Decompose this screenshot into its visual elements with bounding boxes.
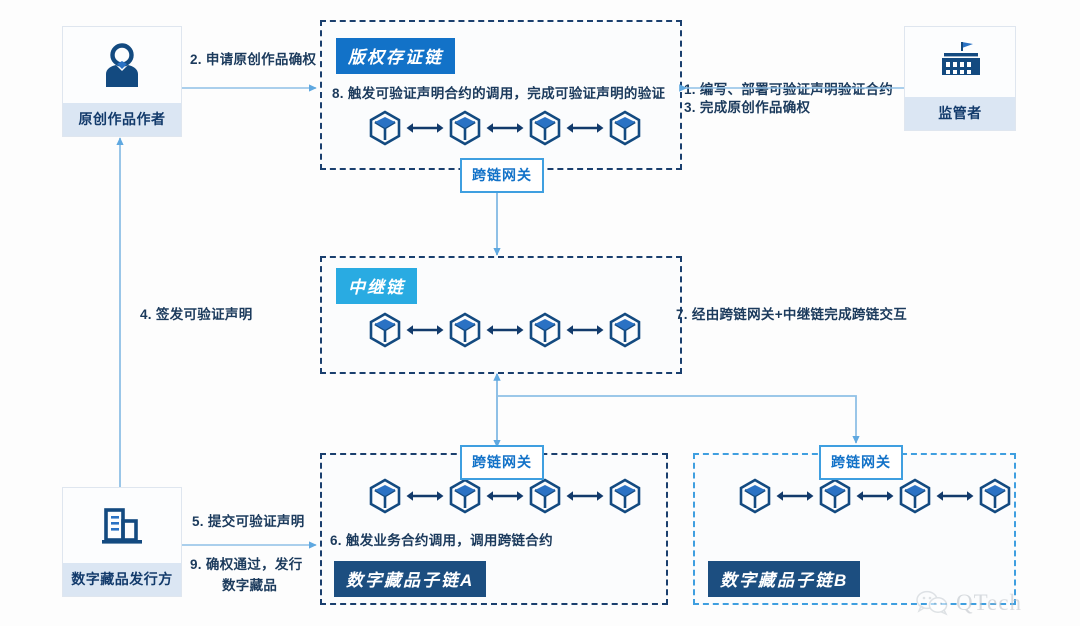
blockchain-node-icon <box>608 478 642 514</box>
node-row-copyright <box>368 110 642 146</box>
chain-copyright-step: 8. 触发可验证声明合约的调用，完成可验证声明的验证 <box>332 82 665 102</box>
blockchain-node-icon <box>608 110 642 146</box>
blockchain-node-icon <box>368 312 402 348</box>
blockchain-node-icon <box>818 478 852 514</box>
node-link-icon <box>562 490 608 502</box>
actor-author-label: 原创作品作者 <box>63 103 181 136</box>
wechat-logo-icon <box>916 590 950 616</box>
chain-copyright-badge: 版权存证链 <box>336 38 455 74</box>
node-link-icon <box>932 490 978 502</box>
diagram-canvas: 原创作品作者 监管者 <box>0 0 1080 626</box>
blockchain-node-icon <box>448 312 482 348</box>
blockchain-node-icon <box>528 478 562 514</box>
blockchain-node-icon <box>528 110 562 146</box>
step-7-label: 7. 经由跨链网关+中继链完成跨链交互 <box>676 303 907 323</box>
blockchain-node-icon <box>528 312 562 348</box>
blockchain-node-icon <box>448 478 482 514</box>
actor-author[interactable]: 原创作品作者 <box>62 26 182 137</box>
node-link-icon <box>772 490 818 502</box>
actor-regulator-label: 监管者 <box>905 97 1015 130</box>
node-link-icon <box>562 324 608 336</box>
gateway-subchain-a[interactable]: 跨链网关 <box>460 445 544 480</box>
node-link-icon <box>482 122 528 134</box>
node-row-subchain-a <box>368 478 642 514</box>
chain-relay-badge: 中继链 <box>336 268 417 304</box>
blockchain-node-icon <box>978 478 1012 514</box>
watermark-text: QTech <box>956 590 1022 616</box>
node-link-icon <box>402 490 448 502</box>
gateway-subchain-b[interactable]: 跨链网关 <box>819 445 903 480</box>
step-1-label: 1. 编写、部署可验证声明验证合约 <box>684 78 893 98</box>
blockchain-node-icon <box>368 110 402 146</box>
step-5-label: 5. 提交可验证声明 <box>192 510 305 530</box>
blockchain-node-icon <box>898 478 932 514</box>
actor-regulator[interactable]: 监管者 <box>904 26 1016 131</box>
node-row-relay <box>368 312 642 348</box>
node-link-icon <box>482 324 528 336</box>
step-9-label-line2: 数字藏品 <box>222 574 277 594</box>
blockchain-node-icon <box>738 478 772 514</box>
node-link-icon <box>482 490 528 502</box>
step-3-label: 3. 完成原创作品确权 <box>684 96 810 116</box>
node-link-icon <box>852 490 898 502</box>
chain-subchain-a-badge: 数字藏品子链A <box>334 561 486 597</box>
blockchain-node-icon <box>448 110 482 146</box>
blockchain-node-icon <box>608 312 642 348</box>
step-4-label: 4. 签发可验证声明 <box>140 303 253 323</box>
gateway-copyright[interactable]: 跨链网关 <box>460 158 544 193</box>
chain-subchain-b-badge: 数字藏品子链B <box>708 561 860 597</box>
actor-publisher-label: 数字藏品发行方 <box>63 563 181 596</box>
government-building-icon <box>905 27 1015 97</box>
node-link-icon <box>402 324 448 336</box>
watermark: QTech <box>916 590 1022 616</box>
step-9-label-line1: 9. 确权通过，发行 <box>190 553 303 573</box>
chain-subchain-a-step: 6. 触发业务合约调用，调用跨链合约 <box>330 529 553 549</box>
node-link-icon <box>402 122 448 134</box>
office-building-icon <box>63 488 181 563</box>
step-2-label: 2. 申请原创作品确权 <box>190 48 316 68</box>
node-row-subchain-b <box>738 478 1012 514</box>
person-icon <box>63 27 181 103</box>
node-link-icon <box>562 122 608 134</box>
blockchain-node-icon <box>368 478 402 514</box>
actor-publisher[interactable]: 数字藏品发行方 <box>62 487 182 597</box>
